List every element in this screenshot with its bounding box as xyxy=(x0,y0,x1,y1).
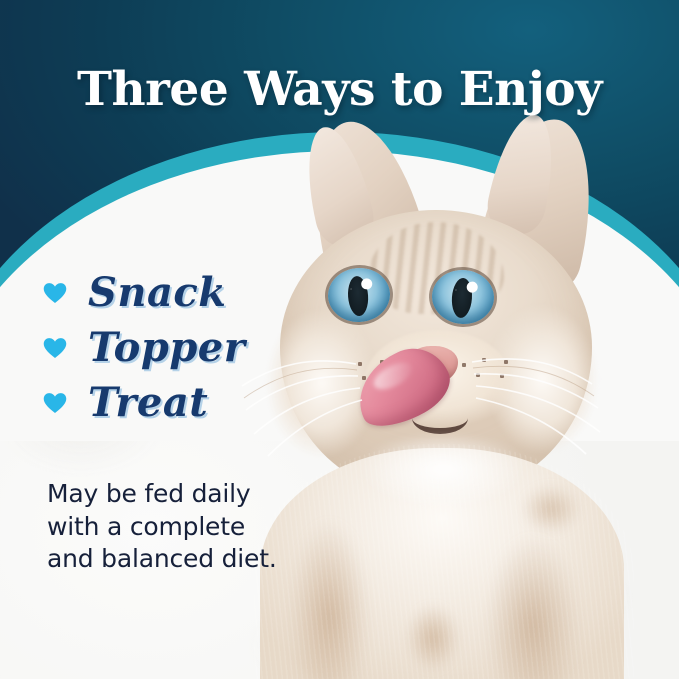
body-copy-line-1: May be fed daily xyxy=(47,478,317,511)
body-copy-line-3: and balanced diet. xyxy=(47,543,317,576)
benefit-label-snack: Snack xyxy=(88,273,226,313)
promo-card: Three Ways to Enjoy Snack Topper Treat M… xyxy=(0,0,679,679)
heart-icon xyxy=(42,335,68,361)
heart-icon xyxy=(42,390,68,416)
cat-photo xyxy=(236,118,679,679)
benefit-list: Snack Topper Treat xyxy=(42,266,245,431)
list-item: Treat xyxy=(42,376,245,430)
body-copy-line-2: with a complete xyxy=(47,511,317,544)
page-title: Three Ways to Enjoy xyxy=(0,62,679,117)
benefit-label-treat: Treat xyxy=(88,383,208,423)
list-item: Topper xyxy=(42,321,245,375)
benefit-label-topper: Topper xyxy=(88,328,245,368)
list-item: Snack xyxy=(42,266,245,320)
heart-icon xyxy=(42,280,68,306)
body-copy: May be fed daily with a complete and bal… xyxy=(47,478,317,576)
